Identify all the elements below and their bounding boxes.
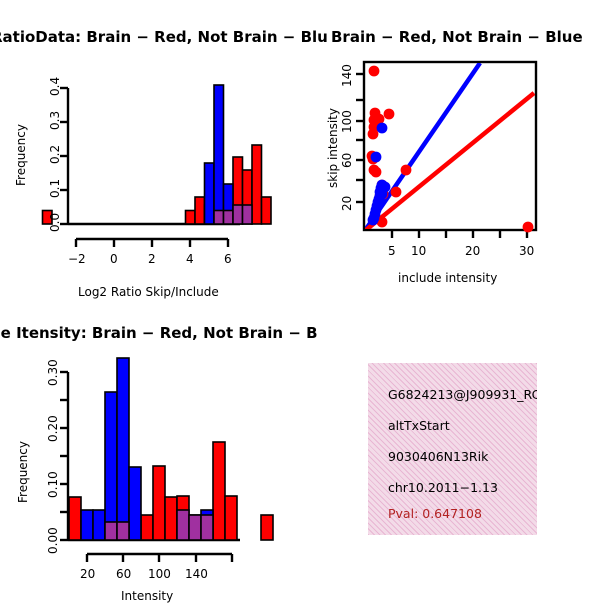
intensity-histogram-title: ne Itensity: Brain − Red, Not Brain − B: [0, 324, 318, 342]
ratio-yaxis-label: Frequency: [14, 124, 28, 186]
r-graphics-device: RatioData: Brain − Red, Not Brain − Blu: [0, 0, 600, 600]
info-line-probe-id: G6824213@J909931_RC: [388, 387, 537, 402]
blue-regression-line: [366, 63, 480, 229]
intensity-yaxis-label: Frequency: [16, 441, 30, 503]
intensity-ytick-0.20: 0.20: [46, 415, 60, 442]
scatter-xtick-5: 5: [388, 244, 396, 258]
scatter-xtick-20: 20: [465, 244, 480, 258]
intensity-xtick-20: 20: [80, 567, 95, 581]
scatter-title: Brain − Red, Not Brain − Blue: [331, 28, 583, 46]
intensity-histogram-plot: [0, 300, 300, 600]
ratio-xtick--2: −2: [68, 252, 86, 266]
intensity-xaxis-label: Intensity: [121, 589, 173, 603]
scatter-yaxis-label: skip intensity: [326, 108, 340, 188]
intensity-ytick-0.30: 0.30: [46, 359, 60, 386]
intensity-xtick-60: 60: [116, 567, 131, 581]
plot-frame: [364, 62, 536, 230]
intensity-bars: [69, 358, 273, 540]
blue-bars: [205, 85, 234, 224]
ratio-xtick-0: 0: [110, 252, 118, 266]
ratio-ytick-0.2: 0.2: [48, 145, 62, 164]
ratio-ytick-0.1: 0.1: [48, 179, 62, 198]
ratio-ytick-0.3: 0.3: [48, 111, 62, 130]
ratio-ytick-0.0: 0.0: [48, 213, 62, 232]
info-line-gene-symbol: 9030406N13Rik: [388, 449, 488, 464]
ratio-xtick-6: 6: [224, 252, 232, 266]
ratio-xtick-2: 2: [148, 252, 156, 266]
scatter-ytick-20: 20: [340, 196, 354, 211]
scatter-panel: Brain − Red, Not Brain − Blue: [300, 0, 600, 310]
scatter-ytick-60: 60: [340, 153, 354, 168]
scatter-ytick-140: 140: [340, 64, 354, 87]
intensity-histogram-panel: ne Itensity: Brain − Red, Not Brain − B: [0, 300, 300, 600]
scatter-ytick-100: 100: [340, 110, 354, 133]
scatter-xtick-30: 30: [519, 244, 534, 258]
gene-info-panel: G6824213@J909931_RC altTxStart 9030406N1…: [368, 363, 537, 535]
x-axis: [76, 239, 228, 247]
ratio-histogram-panel: RatioData: Brain − Red, Not Brain − Blu: [0, 0, 300, 310]
scatter-xtick-10: 10: [411, 244, 426, 258]
ratio-xaxis-label: Log2 Ratio Skip/Include: [78, 285, 219, 299]
x-axis: [87, 554, 232, 562]
ratio-xtick-4: 4: [186, 252, 194, 266]
intensity-ytick-0.10: 0.10: [46, 471, 60, 498]
y-axis: [60, 372, 68, 540]
info-line-pval: Pval: 0.647108: [388, 506, 482, 521]
scatter-xaxis-label: include intensity: [398, 271, 497, 285]
intensity-xtick-140: 140: [185, 567, 208, 581]
ratio-histogram-title: RatioData: Brain − Red, Not Brain − Blu: [0, 28, 328, 46]
y-ticks: [356, 74, 364, 202]
info-line-event-type: altTxStart: [388, 418, 450, 433]
intensity-ytick-0.00: 0.00: [46, 527, 60, 554]
ratio-ytick-0.4: 0.4: [48, 77, 62, 96]
intensity-xtick-100: 100: [148, 567, 171, 581]
info-line-locus: chr10.2011−1.13: [388, 480, 498, 495]
